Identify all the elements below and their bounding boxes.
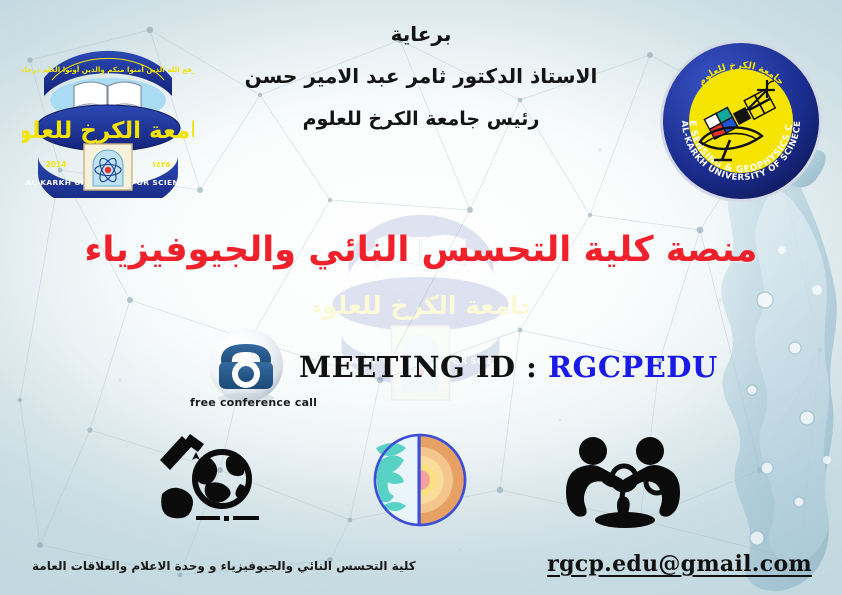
free-conference-call-caption: free conference call — [190, 396, 317, 409]
poster-canvas: جامعة الكرخ للعلوم AL-KARKH UNIVERSITY F… — [0, 0, 842, 595]
svg-text:١٤٣٥: ١٤٣٥ — [152, 160, 171, 169]
contact-email[interactable]: rgcp.edu@gmail.com — [547, 551, 812, 577]
footer-organization: كلية التحسس النائي والجيوفيزياء و وحدة ا… — [32, 559, 416, 573]
meeting-id-text: MEETING ID : RGCPEDU — [299, 350, 718, 384]
sponsor-name: الاستاذ الدكتور ثامر عبد الامير حسن — [0, 64, 842, 88]
svg-text:2014: 2014 — [46, 160, 67, 169]
page-title: منصة كلية التحسس النائي والجيوفيزياء — [0, 230, 842, 270]
sponsor-label: برعاية — [0, 22, 842, 46]
field-researchers-magnifier-icon — [562, 434, 688, 528]
geology-hammer-globe-icon — [152, 432, 264, 528]
earth-cross-section-icon — [372, 432, 468, 528]
meeting-id-value: RGCPEDU — [548, 350, 718, 384]
discipline-icon-row — [0, 430, 842, 530]
sponsor-header: برعاية الاستاذ الدكتور ثامر عبد الامير ح… — [0, 22, 842, 130]
svg-text:جامعة الكرخ للعلوم: جامعة الكرخ للعلوم — [314, 291, 529, 321]
sponsor-title: رئيس جامعة الكرخ للعلوم — [0, 108, 842, 130]
meeting-id-label: MEETING ID : — [299, 350, 537, 384]
